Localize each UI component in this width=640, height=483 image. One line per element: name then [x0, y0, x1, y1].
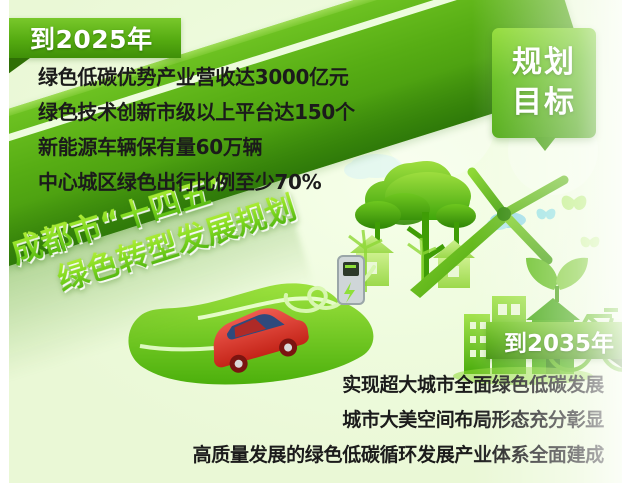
ribbon-2035: 到2035年	[486, 322, 622, 359]
goal-badge: 规划 目标	[492, 28, 596, 138]
list-2035: 实现超大城市全面绿色低碳发展 城市大美空间布局形态充分彰显 高质量发展的绿色低碳…	[184, 368, 604, 473]
leaf-sprout-icon	[526, 258, 588, 302]
butterfly-icon	[581, 237, 600, 248]
list-2025: 绿色低碳优势产业营收达3000亿元 绿色技术创新市级以上平台达150个 新能源车…	[38, 60, 398, 200]
tree-icon	[436, 204, 476, 282]
ribbon-2025-label: 到2025年	[30, 20, 153, 56]
list-item: 新能源车辆保有量60万辆	[38, 130, 398, 165]
list-item: 绿色技术创新市级以上平台达150个	[38, 95, 398, 130]
ribbon-2035-label: 到2035年	[504, 324, 614, 358]
wind-turbine-icon	[408, 238, 436, 292]
list-item: 实现超大城市全面绿色低碳发展	[184, 368, 604, 403]
butterfly-icon	[537, 209, 556, 220]
left-white-margin	[0, 0, 9, 483]
house-icon	[433, 240, 475, 288]
goal-badge-pointer	[534, 137, 556, 151]
list-item: 城市大美空间布局形态充分彰显	[184, 403, 604, 438]
infographic-poster: 成都市“十四五” 绿色转型发展规划 到2025年 绿色低碳优势产业营收达3000…	[0, 0, 640, 483]
list-item: 高质量发展的绿色低碳循环发展产业体系全面建成	[184, 438, 604, 473]
ribbon-2025: 到2025年	[8, 18, 181, 58]
goal-badge-line-1: 规划	[512, 43, 576, 83]
ribbon-2025-fold	[8, 58, 30, 74]
poster-canvas: 成都市“十四五” 绿色转型发展规划 到2025年 绿色低碳优势产业营收达3000…	[8, 0, 622, 483]
list-item: 中心城区绿色出行比例至少70%	[38, 165, 398, 200]
goal-badge-line-2: 目标	[512, 83, 576, 123]
list-item: 绿色低碳优势产业营收达3000亿元	[38, 60, 398, 95]
butterfly-icon	[562, 196, 587, 210]
right-white-margin	[622, 0, 640, 483]
cloud-icon	[487, 212, 526, 230]
ribbon-2035-fold	[610, 359, 622, 375]
